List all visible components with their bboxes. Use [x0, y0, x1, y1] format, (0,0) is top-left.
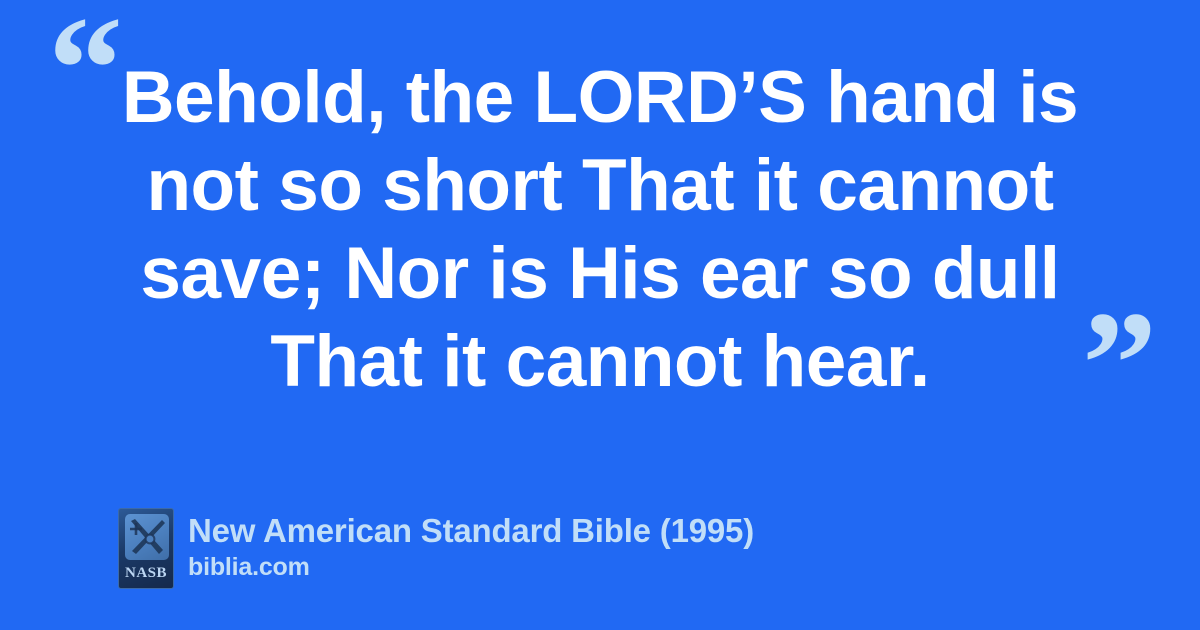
bible-edition-name: New American Standard Bible (1995): [188, 512, 754, 550]
nasb-logo-label: NASB: [119, 566, 173, 581]
quote-line: Behold, the LORD’S hand is: [112, 54, 1088, 142]
quote-card: “ Behold, the LORD’S hand is not so shor…: [0, 0, 1200, 630]
nasb-logo: NASB: [118, 508, 174, 589]
quote-line: That it cannot hear.: [112, 318, 1088, 406]
site-url[interactable]: biblia.com: [188, 552, 754, 582]
scripture-quote: Behold, the LORD’S hand is not so short …: [112, 54, 1088, 406]
close-quote-icon: ”: [1082, 289, 1155, 439]
nasb-crossed-sword-icon: [125, 514, 169, 560]
attribution-footer: NASB New American Standard Bible (1995) …: [118, 508, 754, 589]
quote-line: not so short That it cannot: [112, 142, 1088, 230]
attribution-text-group: New American Standard Bible (1995) bibli…: [188, 508, 754, 582]
open-quote-icon: “: [48, 0, 121, 144]
quote-line: save; Nor is His ear so dull: [112, 230, 1088, 318]
